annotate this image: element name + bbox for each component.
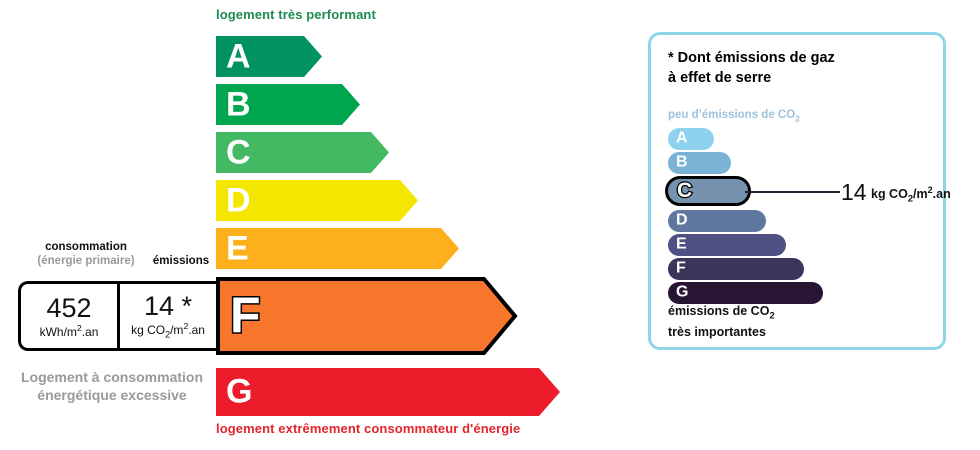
- consumption-caption-line2: énergétique excessive: [8, 386, 216, 404]
- ghg-bar-f[interactable]: F: [668, 258, 804, 280]
- energy-bar-g[interactable]: G: [216, 368, 560, 416]
- ghg-leader-line: [745, 191, 840, 193]
- energy-bar-f-selected[interactable]: F: [216, 277, 518, 355]
- energy-bar-d-letter: D: [226, 183, 251, 217]
- consumption-unit: kWh/m2.an: [40, 324, 99, 338]
- ghg-panel-title-line2: à effet de serre: [668, 68, 928, 88]
- label-consumption-line2: (énergie primaire): [26, 254, 146, 268]
- consumption-caption: Logement à consommation énergétique exce…: [8, 368, 216, 404]
- energy-bar-c-letter: C: [226, 135, 251, 169]
- ghg-bottom-caption: émissions de CO2 très importantes: [668, 303, 775, 340]
- emissions-unit: kg CO2/m2.an: [131, 322, 205, 339]
- value-box: 452 kWh/m2.an 14 * kg CO2/m2.an: [18, 281, 216, 351]
- ghg-bar-a[interactable]: A: [668, 128, 714, 150]
- energy-bar-b-letter: B: [226, 87, 251, 121]
- consumption-caption-line1: Logement à consommation: [8, 368, 216, 386]
- scale-top-caption: logement très performant: [216, 7, 376, 22]
- label-consumption: consommation (énergie primaire): [26, 240, 146, 268]
- energy-bar-g-letter: G: [226, 374, 252, 408]
- ghg-bar-c-selected[interactable]: C: [665, 176, 751, 206]
- ghg-bar-e[interactable]: E: [668, 234, 786, 256]
- scale-bottom-caption: logement extrêmement consommateur d'éner…: [216, 421, 520, 436]
- ghg-panel-title: * Dont émissions de gaz à effet de serre: [668, 48, 928, 88]
- energy-bar-c[interactable]: C: [216, 132, 389, 173]
- ghg-bar-d-letter: D: [676, 213, 688, 229]
- ghg-bar-g-letter: G: [676, 285, 688, 301]
- ghg-bar-e-letter: E: [676, 237, 687, 253]
- dpe-screenshot: logement très performant A B C: [0, 0, 980, 450]
- ghg-bar-g[interactable]: G: [668, 282, 823, 304]
- energy-bar-g-shape: [216, 368, 560, 416]
- energy-bar-f-letter: F: [230, 290, 261, 340]
- ghg-bottom-caption-line2: très importantes: [668, 324, 775, 340]
- ghg-bar-d[interactable]: D: [668, 210, 766, 232]
- ghg-bar-f-letter: F: [676, 261, 686, 277]
- ghg-panel-title-line1: * Dont émissions de gaz: [668, 48, 928, 68]
- ghg-bottom-caption-line1: émissions de CO2: [668, 303, 775, 324]
- ghg-bar-c-letter: C: [677, 180, 692, 201]
- emissions-value: 14 *: [144, 293, 192, 320]
- consumption-value: 452: [46, 295, 91, 322]
- energy-bar-a-letter: A: [226, 39, 251, 73]
- value-cell-emissions: 14 * kg CO2/m2.an: [120, 284, 216, 348]
- energy-bar-e-letter: E: [226, 231, 249, 265]
- energy-bar-e[interactable]: E: [216, 228, 459, 269]
- energy-bar-f-shape: [216, 277, 518, 355]
- energy-bar-e-shape: [216, 228, 459, 269]
- ghg-bar-b[interactable]: B: [668, 152, 731, 174]
- energy-bar-d[interactable]: D: [216, 180, 418, 221]
- ghg-value: 14: [841, 179, 867, 205]
- ghg-value-unit: kg CO2/m2.an: [871, 185, 951, 204]
- value-cell-consumption: 452 kWh/m2.an: [21, 284, 120, 348]
- ghg-top-caption: peu d’émissions de CO2: [668, 109, 800, 123]
- ghg-bar-b-letter: B: [676, 155, 688, 171]
- energy-bar-a[interactable]: A: [216, 36, 322, 77]
- value-box-labels: consommation (énergie primaire) émission…: [18, 240, 216, 280]
- label-emissions: émissions: [146, 254, 216, 268]
- energy-bar-b[interactable]: B: [216, 84, 360, 125]
- ghg-bar-a-letter: A: [676, 131, 688, 147]
- label-consumption-line1: consommation: [45, 241, 127, 253]
